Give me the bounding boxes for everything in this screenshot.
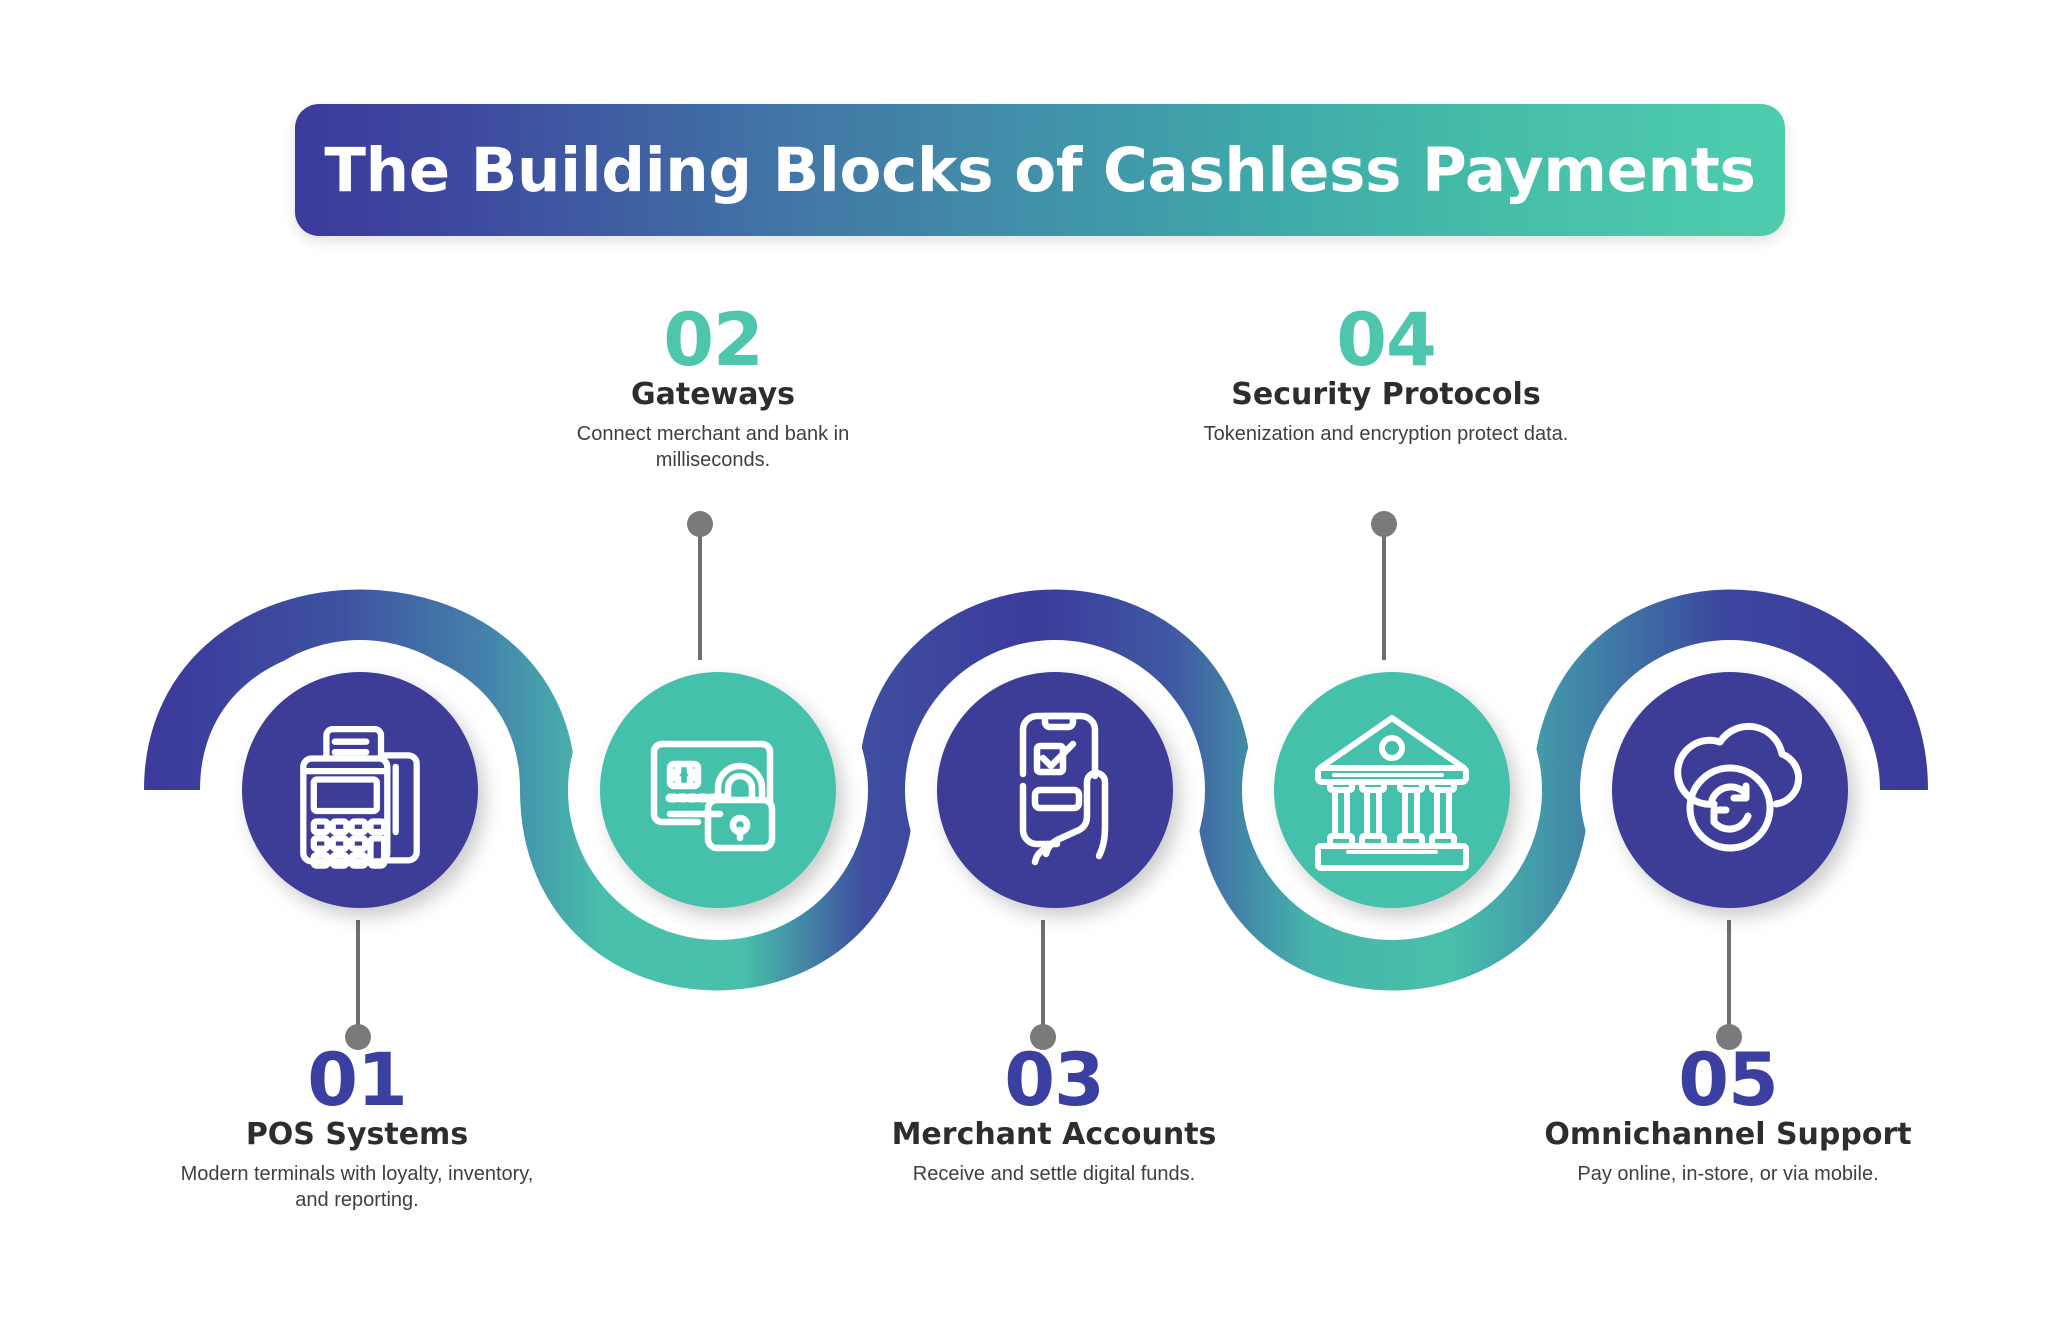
connector-pin-04 <box>1371 511 1397 660</box>
connector-pin-03 <box>1030 920 1056 1050</box>
step-circle-03[interactable] <box>937 672 1173 908</box>
step-title-03: Merchant Accounts <box>864 1118 1244 1153</box>
step-number-04: 04 <box>1196 307 1576 374</box>
step-circle-02[interactable] <box>600 672 836 908</box>
step-description-02: Connect merchant and bank in millisecond… <box>523 421 903 474</box>
step-text-03: 03 Merchant Accounts Receive and settle … <box>864 1047 1244 1187</box>
step-circle-04[interactable] <box>1274 672 1510 908</box>
step-title-04: Security Protocols <box>1196 378 1576 413</box>
step-number-03: 03 <box>864 1047 1244 1114</box>
step-circle-01[interactable] <box>242 672 478 908</box>
connector-pin-02 <box>687 511 713 660</box>
step-text-04: 04 Security Protocols Tokenization and e… <box>1196 307 1576 447</box>
step-title-02: Gateways <box>523 378 903 413</box>
step-description-05: Pay online, in-store, or via mobile. <box>1538 1161 1918 1187</box>
step-description-01: Modern terminals with loyalty, inventory… <box>167 1161 547 1214</box>
step-circle-05[interactable] <box>1612 672 1848 908</box>
connector-pin-05 <box>1716 920 1742 1050</box>
infographic-canvas: The Building Blocks of Cashless Payments <box>0 0 2048 1320</box>
step-number-02: 02 <box>523 307 903 374</box>
step-title-01: POS Systems <box>167 1118 547 1153</box>
step-text-02: 02 Gateways Connect merchant and bank in… <box>523 307 903 473</box>
step-title-05: Omnichannel Support <box>1538 1118 1918 1153</box>
step-text-05: 05 Omnichannel Support Pay online, in-st… <box>1538 1047 1918 1187</box>
step-number-01: 01 <box>167 1047 547 1114</box>
connector-pin-01 <box>345 920 371 1050</box>
step-number-05: 05 <box>1538 1047 1918 1114</box>
step-text-01: 01 POS Systems Modern terminals with loy… <box>167 1047 547 1213</box>
step-description-03: Receive and settle digital funds. <box>864 1161 1244 1187</box>
step-description-04: Tokenization and encryption protect data… <box>1196 421 1576 447</box>
